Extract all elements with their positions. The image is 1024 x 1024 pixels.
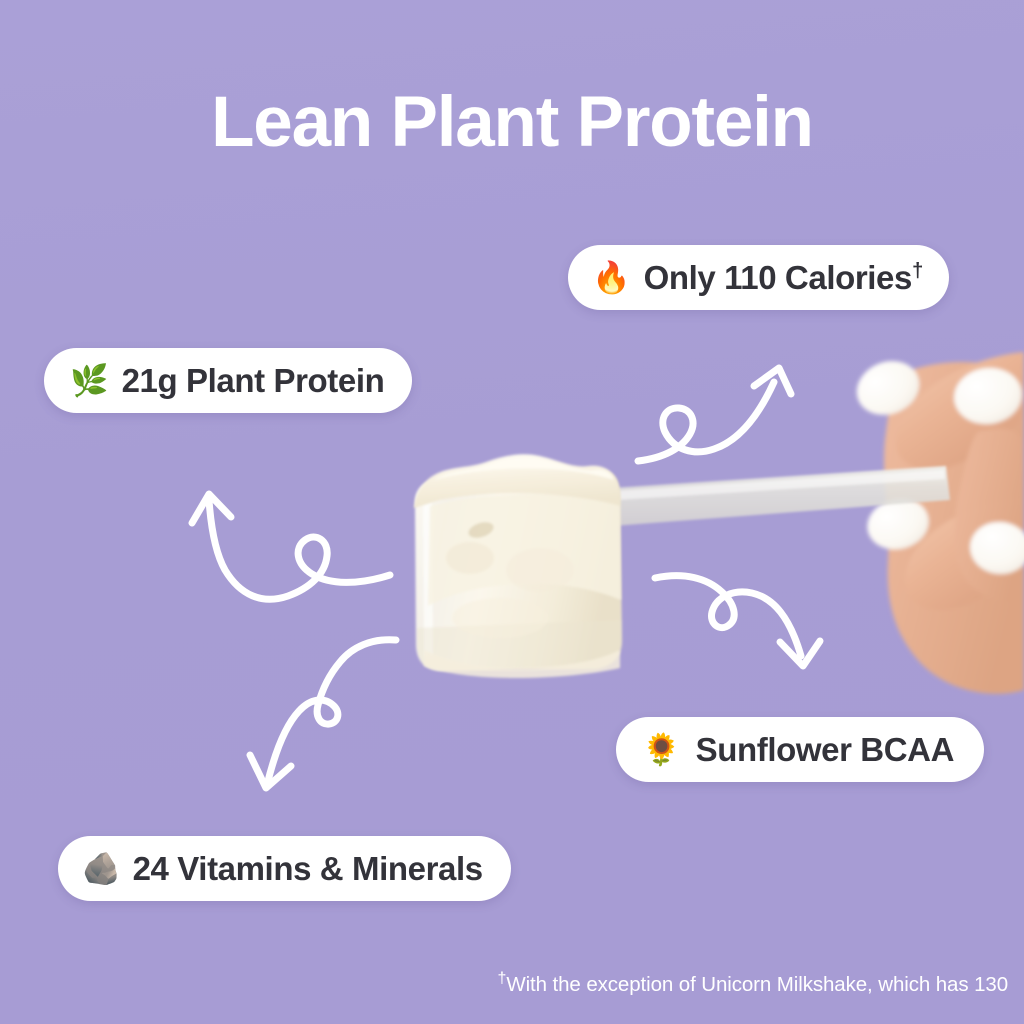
infographic-canvas: Lean Plant Protein (0, 0, 1024, 1024)
feature-pill-calories[interactable]: 🔥 Only 110 Calories† (568, 245, 949, 310)
footnote-text: With the exception of Unicorn Milkshake,… (506, 973, 1008, 996)
sunflower-emoji: 🌻 (642, 734, 681, 765)
feature-label-bcaa: Sunflower BCAA (696, 733, 954, 766)
feature-pill-bcaa[interactable]: 🌻 Sunflower BCAA (616, 717, 984, 782)
fire-emoji: 🔥 (592, 262, 631, 293)
feature-label-protein: 21g Plant Protein (122, 364, 385, 397)
feature-label-vitamins: 24 Vitamins & Minerals (133, 852, 483, 885)
feature-label-calories: Only 110 Calories† (644, 261, 923, 294)
rock-emoji: 🪨 (82, 853, 121, 884)
herb-emoji: 🌿 (70, 365, 109, 396)
dagger-superscript: † (912, 259, 923, 282)
feature-pill-protein[interactable]: 🌿 21g Plant Protein (44, 348, 412, 413)
feature-pill-vitamins[interactable]: 🪨 24 Vitamins & Minerals (58, 836, 511, 901)
footnote: †With the exception of Unicorn Milkshake… (498, 973, 1008, 997)
